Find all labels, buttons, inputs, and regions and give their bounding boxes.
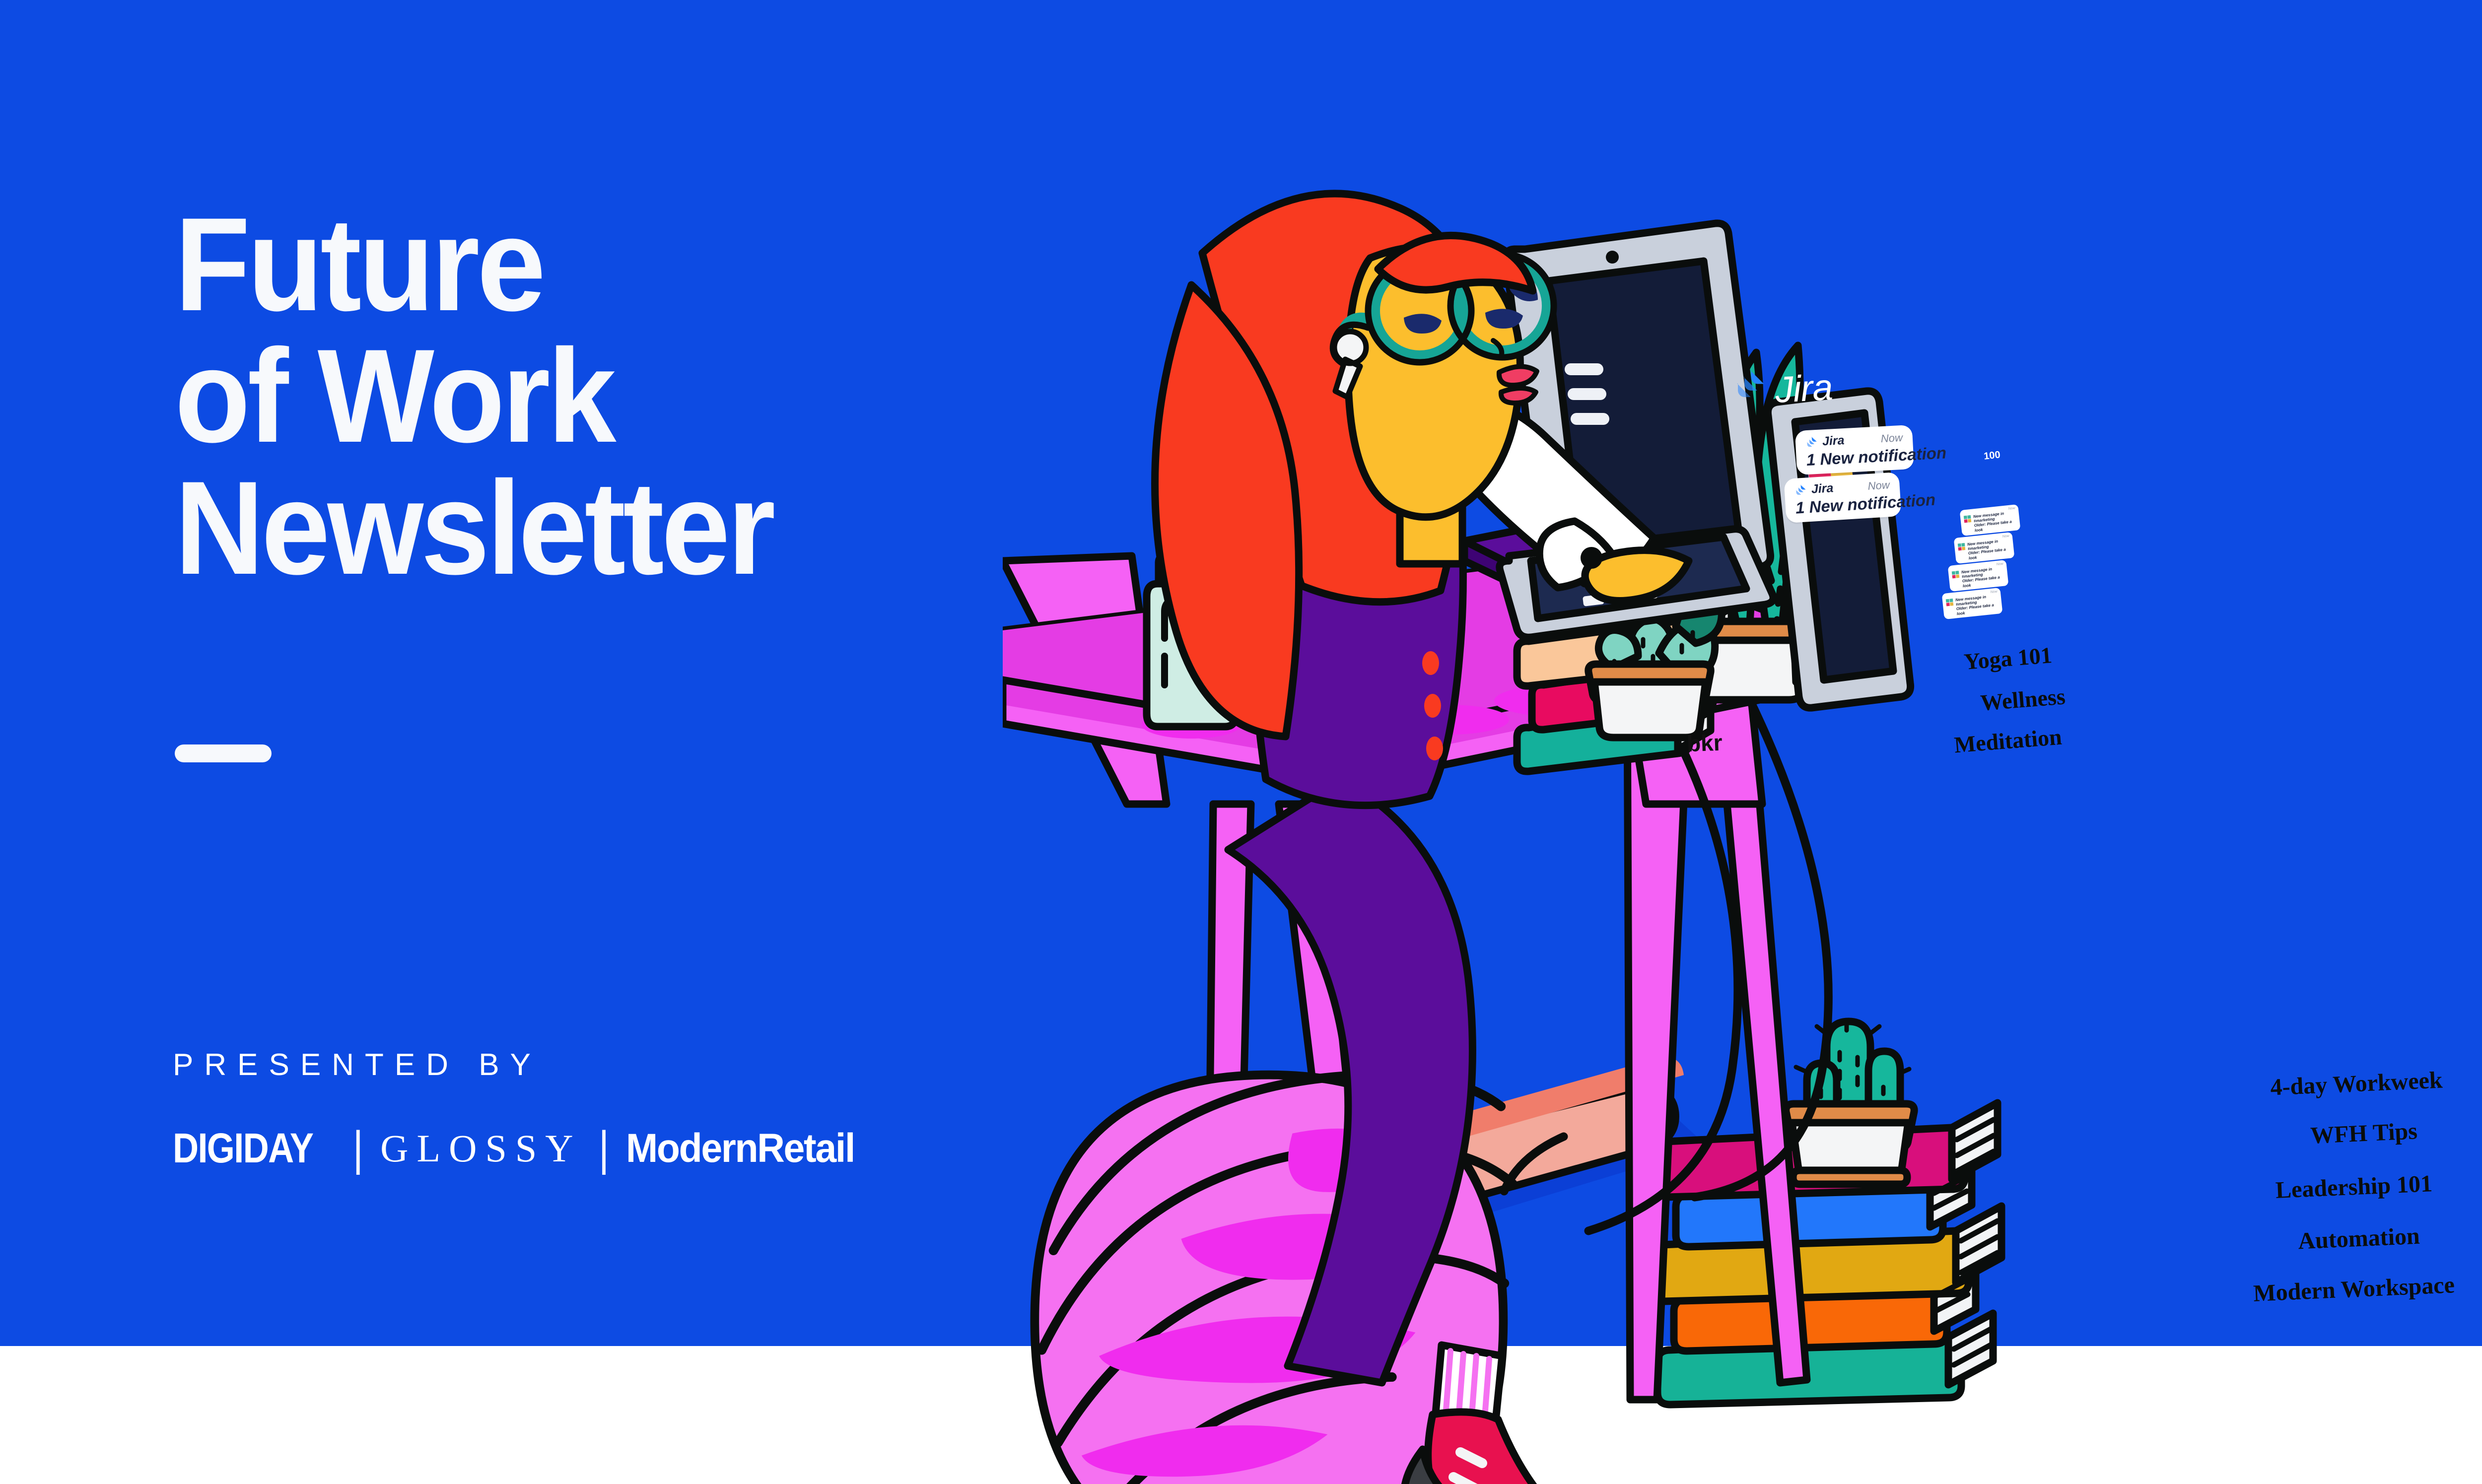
presented-by-label: PRESENTED BY xyxy=(173,1047,542,1082)
jira-app-name: Jira xyxy=(1774,366,1834,411)
notification-card[interactable]: Jira Now 1 New notification xyxy=(1784,472,1901,523)
slack-icon xyxy=(1945,598,1954,607)
notification-message: 1 New notification xyxy=(1806,446,1904,470)
notification-app-label: Jira xyxy=(1811,481,1834,497)
jira-logo-icon xyxy=(1805,435,1818,449)
cactus-small-illustration xyxy=(1786,1020,1914,1184)
notification-app-name: Jira xyxy=(1805,433,1845,450)
notification-app-name: Jira xyxy=(1794,481,1834,498)
newsletter-hero-banner: Future of Work Newsletter PRESENTED BY D… xyxy=(0,0,2482,1484)
slack-icon xyxy=(1957,542,1966,551)
notification-timestamp: Now xyxy=(1867,478,1890,493)
jira-logo-icon xyxy=(1733,368,1768,403)
notification-card[interactable]: Jira Now 1 New notification xyxy=(1795,425,1914,475)
jira-logo-icon xyxy=(1794,483,1808,497)
notification-app-label: Jira xyxy=(1822,433,1845,449)
logo-modern-retail: ModernRetail xyxy=(626,1125,854,1172)
slack-icon xyxy=(1963,515,1972,524)
logo-separator-1: | xyxy=(352,1121,363,1176)
logo-glossy: GLOSSY xyxy=(380,1126,581,1171)
title-divider-dash xyxy=(175,744,272,762)
partner-logos: DIGIDAY | GLOSSY | ModernRetail xyxy=(173,1124,869,1172)
slack-icon xyxy=(1951,570,1960,579)
notification-timestamp: Now xyxy=(1880,431,1903,445)
logo-separator-2: | xyxy=(599,1121,610,1176)
water-bottle-brand-label: bkr xyxy=(1686,729,1723,757)
logo-digiday: DIGIDAY xyxy=(173,1124,313,1172)
